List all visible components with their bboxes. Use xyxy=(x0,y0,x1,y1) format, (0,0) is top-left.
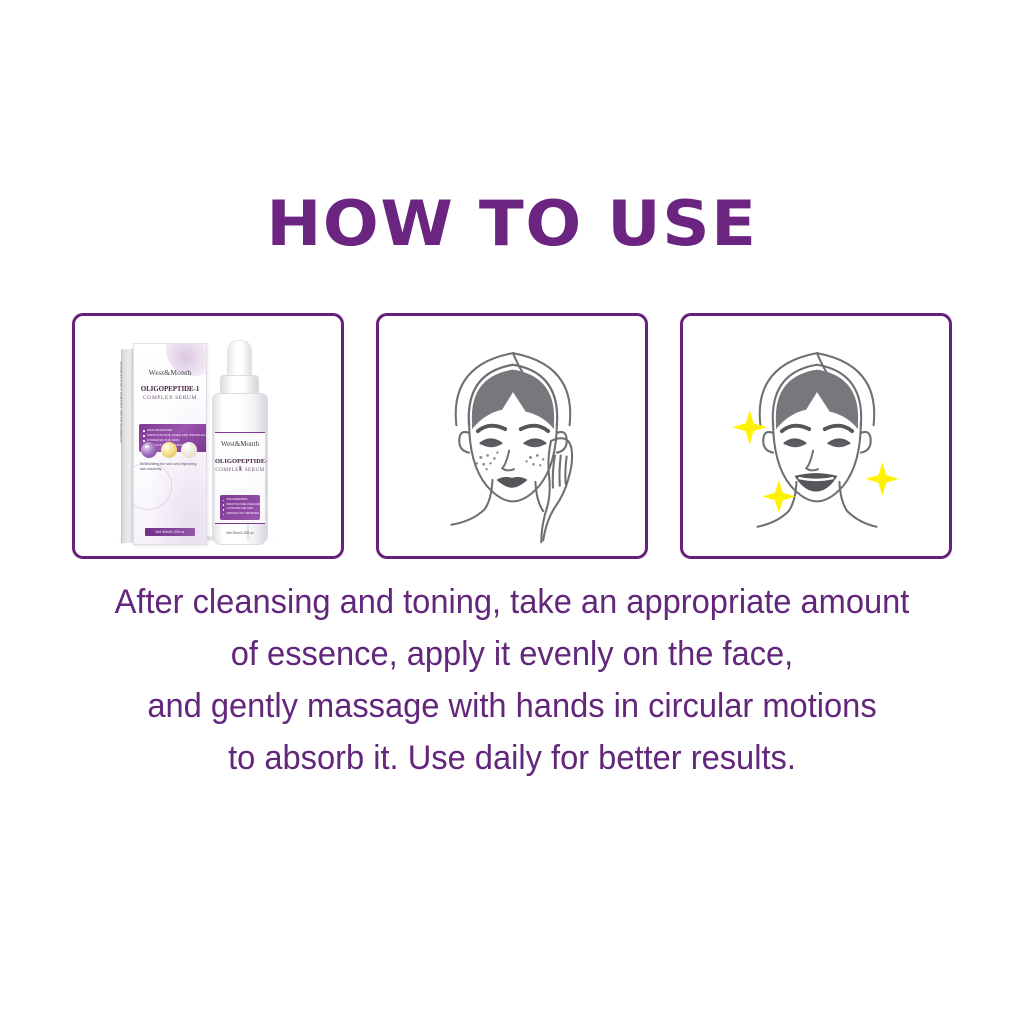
instructions-line-2: of essence, apply it evenly on the face, xyxy=(59,628,965,680)
product-illustration: OLIGOPEPTIDE-1 COMPLEX SERUM West&Month … xyxy=(75,316,341,556)
infographic-root: HOW TO USE OLIGOPEPTIDE-1 COMPLEX SERUM … xyxy=(0,0,1024,1024)
sparkle-icon xyxy=(732,410,767,445)
ingredient-droplet-gold xyxy=(161,442,177,458)
smiling-lips xyxy=(795,473,838,492)
glowing-face-illustration xyxy=(683,316,949,556)
box-front-panel: West&Month OLIGOPEPTIDE-1 COMPLEX SERUM … xyxy=(133,343,207,545)
face-applying-serum-illustration xyxy=(379,316,645,556)
box-product-sub: COMPLEX SERUM xyxy=(134,395,206,401)
box-brand: West&Month xyxy=(134,368,206,377)
lips xyxy=(496,477,527,488)
box-side-text: OLIGOPEPTIDE-1 COMPLEX SERUM West&Month xyxy=(119,361,123,533)
result-panel xyxy=(680,313,952,559)
dropper-bulb xyxy=(227,340,252,380)
box-benefit-text: Moisturizing the skin and improving skin… xyxy=(140,462,202,472)
bottle-label: West&Month OLIGOPEPTIDE-1 COMPLEX SERUM … xyxy=(215,432,265,524)
serum-bottle: West&Month OLIGOPEPTIDE-1 COMPLEX SERUM … xyxy=(203,340,275,546)
ingredient-droplet-pearl xyxy=(181,442,197,458)
ingredient-droplets xyxy=(141,442,199,459)
instructions-line-3: and gently massage with hands in circula… xyxy=(59,680,965,732)
hand-shape xyxy=(541,438,572,542)
step-panels: OLIGOPEPTIDE-1 COMPLEX SERUM West&Month … xyxy=(72,313,952,559)
ingredient-droplet-purple xyxy=(141,442,157,458)
box-net-content: Net 30ml/1.02fl.oz xyxy=(145,528,195,536)
bottle-bullet: WITHOUT OILY RESIDUES xyxy=(223,512,258,517)
instructions-line-4: to absorb it. Use daily for better resul… xyxy=(59,732,965,784)
instructions-text: After cleansing and toning, take an appr… xyxy=(59,576,965,784)
bottle-bullet-list: SKIN REPAIRING SMOOTHS FINE LINES AND WR… xyxy=(220,495,260,520)
box-product-name: OLIGOPEPTIDE-1 xyxy=(134,385,206,393)
product-panel: OLIGOPEPTIDE-1 COMPLEX SERUM West&Month … xyxy=(72,313,344,559)
bottle-net-content: Net 30ml/1.02fl.oz xyxy=(213,531,267,535)
skin-spots xyxy=(476,451,545,470)
page-title: HOW TO USE xyxy=(0,193,1024,255)
sparkle-icon xyxy=(866,462,899,495)
bottle-glass-body: West&Month OLIGOPEPTIDE-1 COMPLEX SERUM … xyxy=(212,393,268,545)
bottle-product-sub: COMPLEX SERUM xyxy=(215,467,265,473)
apply-panel xyxy=(376,313,648,559)
instructions-line-1: After cleansing and toning, take an appr… xyxy=(59,576,965,628)
bottle-brand: West&Month xyxy=(215,440,265,448)
product-box: OLIGOPEPTIDE-1 COMPLEX SERUM West&Month … xyxy=(121,343,205,543)
